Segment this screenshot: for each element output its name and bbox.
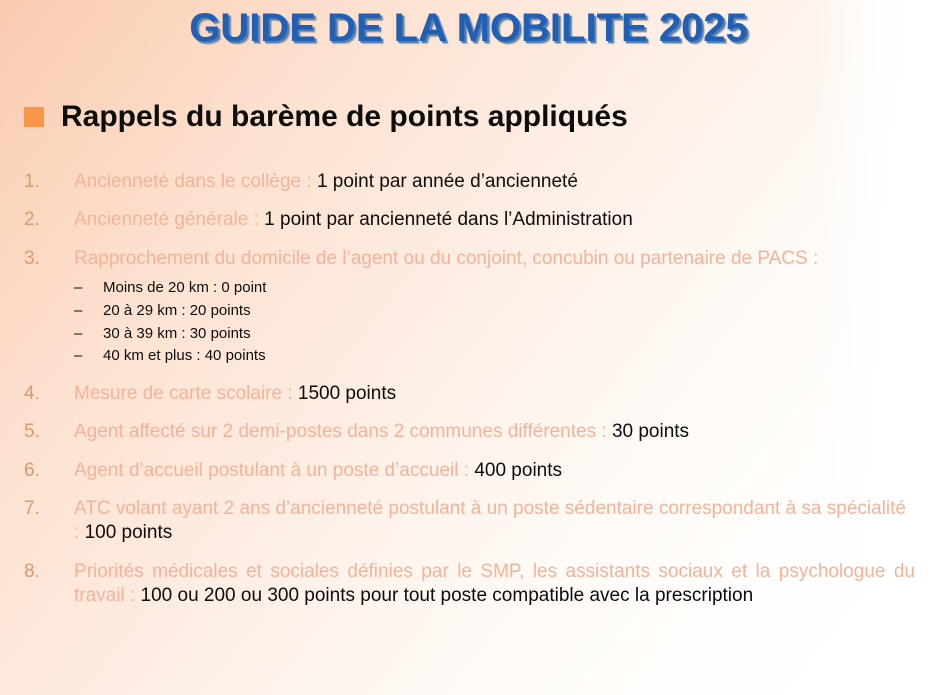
dash-bullet-icon: –	[74, 277, 82, 300]
list-item-number: 8.	[24, 560, 64, 584]
list-item-value: 1 point par année d’ancienneté	[317, 171, 578, 192]
sub-list-item: – 20 à 29 km : 20 points	[74, 300, 915, 323]
list-item-body: Rapprochement du domicile de l’agent ou …	[74, 248, 818, 269]
list-item-value: 100 ou 200 ou 300 points pour tout poste…	[141, 585, 754, 606]
list-item-label: Rapprochement du domicile de l’agent ou …	[74, 248, 818, 269]
list-item-label: Mesure de carte scolaire :	[74, 383, 293, 404]
list-item-number: 3.	[24, 247, 64, 271]
list-item-value: 400 points	[474, 460, 562, 481]
list-item-value: 30 points	[612, 421, 689, 442]
list-item-label: Ancienneté générale :	[74, 209, 259, 230]
page-title: GUIDE DE LA MOBILITE 2025	[0, 6, 937, 51]
dash-bullet-icon: –	[74, 345, 82, 368]
list-item-body: Ancienneté dans le collège : 1 point par…	[74, 171, 578, 192]
list-item-body: ATC volant ayant 2 ans d’ancienneté post…	[74, 498, 906, 543]
list-item: 3. Rapprochement du domicile de l’agent …	[0, 247, 937, 369]
section-heading-label: Rappels du barème de points appliqués	[61, 100, 628, 133]
slide: GUIDE DE LA MOBILITE 2025 Rappels du bar…	[0, 0, 937, 695]
list-item-value: 1500 points	[298, 383, 396, 404]
sub-list-item: – 40 km et plus : 40 points	[74, 345, 915, 368]
list-item-body: Priorités médicales et sociales définies…	[74, 561, 915, 606]
list-item: 8. Priorités médicales et sociales défin…	[0, 560, 937, 609]
sub-list-item: – Moins de 20 km : 0 point	[74, 277, 915, 300]
list-item-body: Ancienneté générale : 1 point par ancien…	[74, 209, 633, 230]
list-item-label: Ancienneté dans le collège :	[74, 171, 312, 192]
list-item-label: ATC volant ayant 2 ans d’ancienneté post…	[74, 498, 906, 543]
sub-list-item: – 30 à 39 km : 30 points	[74, 323, 915, 346]
list-item-number: 1.	[24, 170, 64, 194]
sub-list-item-label: 40 km et plus : 40 points	[103, 347, 266, 364]
section-heading: Rappels du barème de points appliqués	[24, 100, 628, 133]
list-item-label: Agent d’accueil postulant à un poste d’a…	[74, 460, 469, 481]
list-item: 4. Mesure de carte scolaire : 1500 point…	[0, 382, 937, 406]
list-item: 7. ATC volant ayant 2 ans d’ancienneté p…	[0, 497, 937, 546]
points-list: 1. Ancienneté dans le collège : 1 point …	[0, 170, 937, 622]
sub-list-item-label: Moins de 20 km : 0 point	[103, 279, 266, 296]
dash-bullet-icon: –	[74, 300, 82, 323]
list-item-body: Agent d’accueil postulant à un poste d’a…	[74, 460, 562, 481]
list-item: 5. Agent affecté sur 2 demi-postes dans …	[0, 420, 937, 444]
list-item: 6. Agent d’accueil postulant à un poste …	[0, 459, 937, 483]
square-bullet-icon	[24, 107, 44, 127]
list-item-number: 2.	[24, 208, 64, 232]
list-item-number: 6.	[24, 459, 64, 483]
list-item-number: 7.	[24, 497, 64, 521]
list-item-number: 4.	[24, 382, 64, 406]
dash-bullet-icon: –	[74, 323, 82, 346]
list-item-value: 100 points	[85, 522, 173, 543]
list-item: 1. Ancienneté dans le collège : 1 point …	[0, 170, 937, 194]
slide-content: GUIDE DE LA MOBILITE 2025 Rappels du bar…	[0, 0, 937, 695]
sub-list-item-label: 20 à 29 km : 20 points	[103, 302, 251, 319]
sub-list: – Moins de 20 km : 0 point – 20 à 29 km …	[74, 277, 915, 368]
list-item: 2. Ancienneté générale : 1 point par anc…	[0, 208, 937, 232]
list-item-label: Agent affecté sur 2 demi-postes dans 2 c…	[74, 421, 607, 442]
sub-list-item-label: 30 à 39 km : 30 points	[103, 325, 251, 342]
list-item-body: Mesure de carte scolaire : 1500 points	[74, 383, 396, 404]
list-item-number: 5.	[24, 420, 64, 444]
list-item-value: 1 point par ancienneté dans l’Administra…	[264, 209, 633, 230]
list-item-body: Agent affecté sur 2 demi-postes dans 2 c…	[74, 421, 689, 442]
